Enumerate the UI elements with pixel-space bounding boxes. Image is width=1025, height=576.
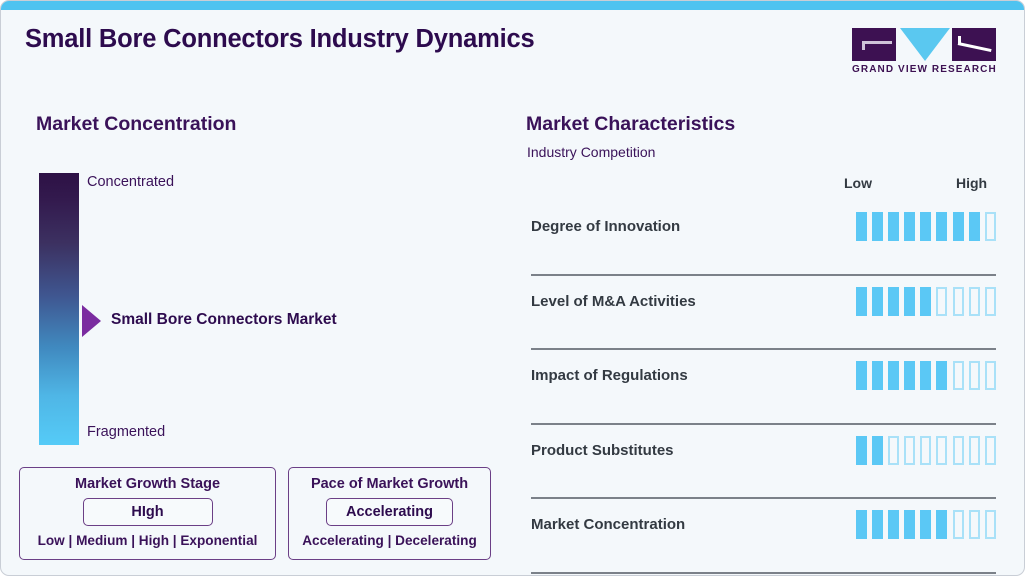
rating-tick-empty — [953, 361, 964, 390]
characteristic-label: Degree of Innovation — [531, 218, 680, 235]
rating-tick-filled — [872, 436, 883, 465]
rating-tick-filled — [920, 510, 931, 539]
characteristic-rating-bars — [856, 436, 997, 465]
rating-tick-filled — [872, 510, 883, 539]
rating-tick-filled — [920, 287, 931, 316]
rating-tick-filled — [936, 361, 947, 390]
rating-tick-filled — [888, 287, 899, 316]
page-title: Small Bore Connectors Industry Dynamics — [25, 25, 534, 54]
rating-tick-empty — [953, 287, 964, 316]
pace-of-market-growth-value: Accelerating — [326, 498, 453, 526]
rating-tick-empty — [969, 287, 980, 316]
rating-tick-filled — [953, 212, 964, 241]
rating-tick-filled — [969, 212, 980, 241]
market-growth-stage-box: Market Growth Stage HIgh Low | Medium | … — [19, 467, 276, 560]
market-concentration-heading: Market Concentration — [36, 113, 236, 136]
pace-of-market-growth-title: Pace of Market Growth — [289, 475, 490, 493]
rating-tick-filled — [856, 436, 867, 465]
rating-tick-filled — [888, 361, 899, 390]
rating-tick-empty — [953, 510, 964, 539]
rating-tick-filled — [888, 212, 899, 241]
market-growth-stage-title: Market Growth Stage — [20, 475, 275, 493]
market-position-arrow-icon — [82, 305, 101, 337]
rating-tick-empty — [985, 510, 996, 539]
rating-tick-filled — [936, 212, 947, 241]
characteristic-row: Product Substitutes — [531, 425, 996, 500]
scale-label-high: High — [956, 175, 987, 191]
rating-tick-filled — [904, 510, 915, 539]
logo-text: GRAND VIEW RESEARCH — [852, 64, 996, 75]
characteristic-rating-bars — [856, 510, 997, 539]
market-characteristics-heading: Market Characteristics — [526, 113, 735, 136]
characteristic-row: Impact of Regulations — [531, 350, 996, 425]
market-growth-stage-value: HIgh — [83, 498, 213, 526]
characteristic-rating-bars — [856, 361, 997, 390]
rating-tick-empty — [985, 212, 996, 241]
characteristic-rating-bars — [856, 212, 997, 241]
rating-tick-filled — [936, 510, 947, 539]
pace-of-market-growth-scale: Accelerating | Decelerating — [289, 533, 490, 548]
market-position-label: Small Bore Connectors Market — [111, 311, 337, 329]
rating-tick-filled — [888, 510, 899, 539]
concentration-gradient-bar — [39, 173, 79, 445]
rating-tick-empty — [953, 436, 964, 465]
rating-tick-empty — [985, 436, 996, 465]
rating-tick-filled — [920, 212, 931, 241]
characteristic-label: Level of M&A Activities — [531, 293, 696, 310]
rating-tick-filled — [856, 510, 867, 539]
rating-tick-empty — [985, 287, 996, 316]
rating-tick-filled — [872, 212, 883, 241]
market-characteristics-subheading: Industry Competition — [527, 144, 655, 160]
top-accent-bar — [1, 1, 1025, 10]
logo-right-block-icon — [952, 28, 996, 61]
characteristic-rating-bars — [856, 287, 997, 316]
characteristic-label: Product Substitutes — [531, 442, 674, 459]
rating-tick-empty — [936, 287, 947, 316]
rating-tick-empty — [936, 436, 947, 465]
rating-tick-filled — [856, 361, 867, 390]
characteristic-row: Market Concentration — [531, 499, 996, 574]
rating-tick-empty — [969, 510, 980, 539]
rating-tick-filled — [856, 287, 867, 316]
rating-tick-filled — [872, 361, 883, 390]
pace-of-market-growth-box: Pace of Market Growth Accelerating Accel… — [288, 467, 491, 560]
characteristics-rows: Degree of InnovationLevel of M&A Activit… — [531, 201, 996, 574]
rating-tick-empty — [920, 436, 931, 465]
scale-label-low: Low — [844, 175, 872, 191]
logo-marks — [852, 28, 996, 61]
rating-tick-empty — [904, 436, 915, 465]
characteristic-label: Impact of Regulations — [531, 367, 688, 384]
rating-tick-empty — [985, 361, 996, 390]
scale-label-concentrated: Concentrated — [87, 174, 174, 190]
infographic-card: Small Bore Connectors Industry Dynamics … — [0, 0, 1025, 576]
rating-tick-filled — [904, 212, 915, 241]
rating-tick-filled — [856, 212, 867, 241]
characteristic-row: Degree of Innovation — [531, 201, 996, 276]
rating-tick-filled — [920, 361, 931, 390]
scale-label-fragmented: Fragmented — [87, 424, 165, 440]
grand-view-research-logo: GRAND VIEW RESEARCH — [852, 28, 996, 77]
rating-tick-empty — [888, 436, 899, 465]
logo-triangle-icon — [900, 28, 950, 61]
rating-tick-filled — [872, 287, 883, 316]
rating-tick-empty — [969, 361, 980, 390]
logo-left-block-icon — [852, 28, 896, 61]
characteristic-label: Market Concentration — [531, 516, 685, 533]
rating-tick-filled — [904, 361, 915, 390]
rating-tick-empty — [969, 436, 980, 465]
market-growth-stage-scale: Low | Medium | High | Exponential — [20, 533, 275, 548]
characteristic-row: Level of M&A Activities — [531, 276, 996, 351]
rating-tick-filled — [904, 287, 915, 316]
